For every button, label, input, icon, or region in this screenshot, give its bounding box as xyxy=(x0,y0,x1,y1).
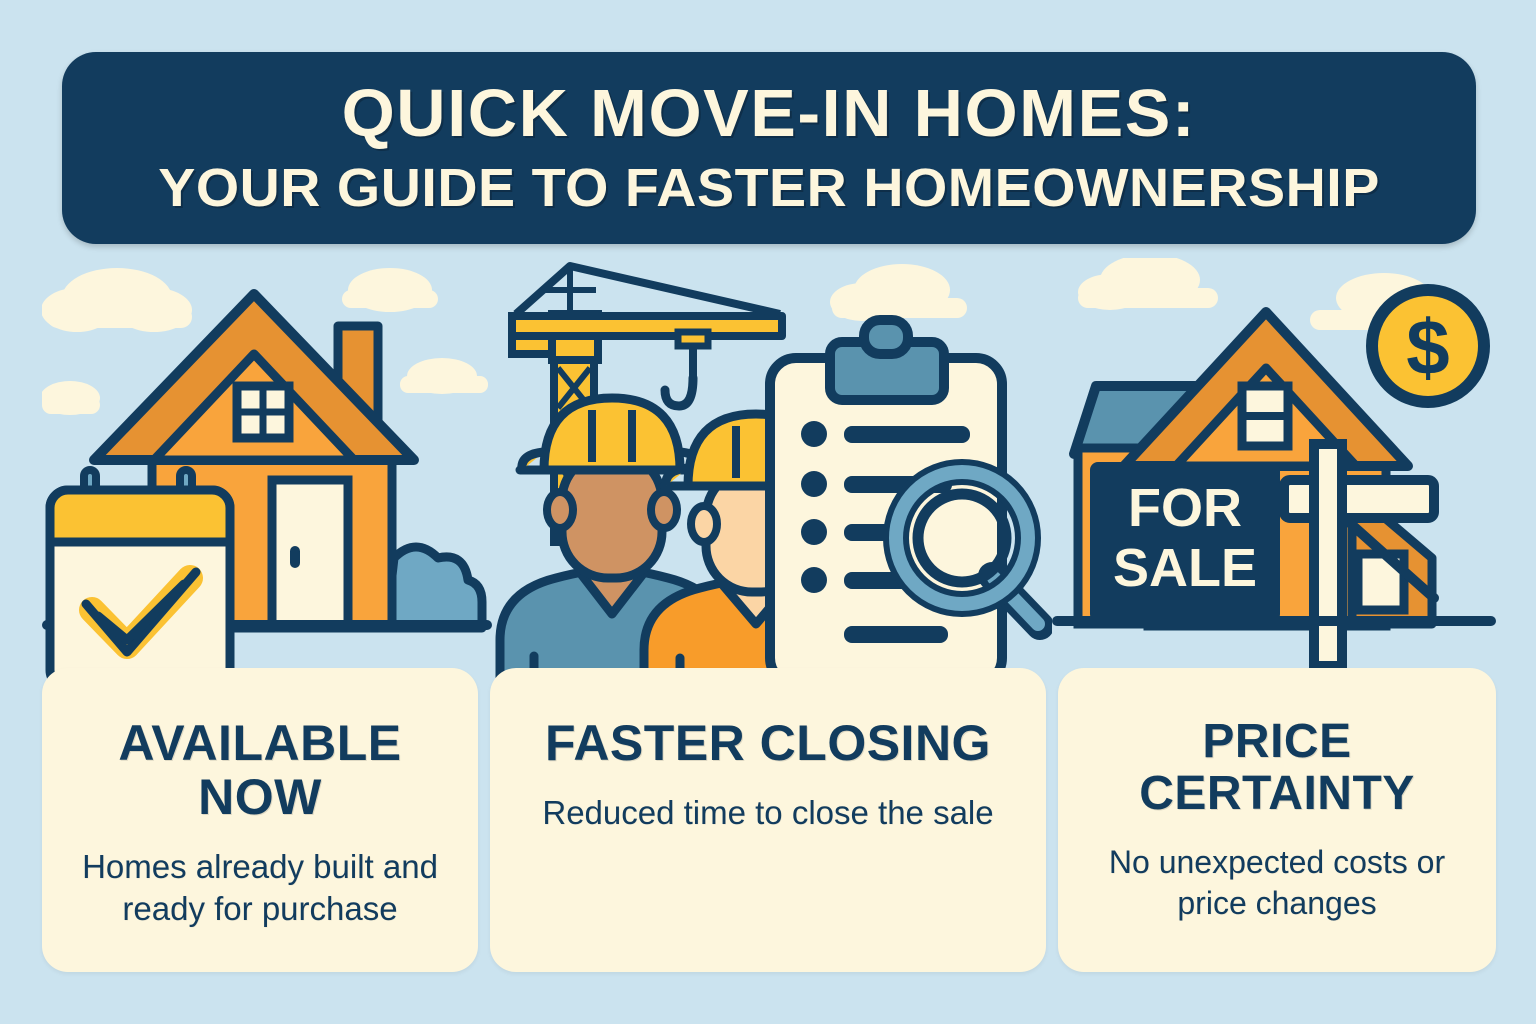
cloud-icon xyxy=(1078,258,1218,310)
construction-graphic xyxy=(492,258,1052,688)
for-sale-line1: FOR xyxy=(1128,478,1242,538)
card-title: AVAILABLE NOW xyxy=(64,716,456,824)
card-description: Reduced time to close the sale xyxy=(512,792,1024,834)
benefit-cards: AVAILABLE NOW Homes already built and re… xyxy=(0,668,1536,974)
cloud-icon xyxy=(830,264,967,321)
calendar-check-icon xyxy=(50,470,230,688)
card-description: Homes already built and ready for purcha… xyxy=(64,846,456,930)
card-price-certainty[interactable]: PRICE CERTAINTY No unexpected costs or p… xyxy=(1058,668,1496,972)
card-title: FASTER CLOSING xyxy=(512,716,1024,770)
title-banner: QUICK MOVE-IN HOMES: YOUR GUIDE TO FASTE… xyxy=(62,52,1476,244)
for-sale-house-graphic: FOR SALE $ xyxy=(1052,258,1496,688)
cloud-icon xyxy=(342,268,438,312)
house-calendar-graphic xyxy=(42,258,492,688)
illustration-available-now xyxy=(42,258,492,688)
clipboard-checklist-icon xyxy=(770,320,1002,684)
cloud-icon xyxy=(42,381,100,415)
card-available-now[interactable]: AVAILABLE NOW Homes already built and re… xyxy=(42,668,478,972)
for-sale-sign: FOR SALE xyxy=(1090,462,1280,622)
illustration-faster-closing xyxy=(492,258,1052,688)
banner-title-line1: QUICK MOVE-IN HOMES: xyxy=(342,79,1196,149)
bush-icon xyxy=(386,547,482,628)
coin-dollar-symbol: $ xyxy=(1406,303,1449,391)
illustration-band: FOR SALE $ xyxy=(0,258,1536,688)
card-title: PRICE CERTAINTY xyxy=(1080,716,1474,820)
dollar-coin-icon: $ xyxy=(1372,290,1484,402)
card-description: No unexpected costs or price changes xyxy=(1080,842,1474,924)
for-sale-line2: SALE xyxy=(1113,538,1257,598)
cloud-icon xyxy=(42,268,192,332)
cloud-icon xyxy=(400,358,488,394)
illustration-price-certainty: FOR SALE $ xyxy=(1052,258,1496,688)
banner-title-line2: YOUR GUIDE TO FASTER HOMEOWNERSHIP xyxy=(158,160,1380,217)
card-faster-closing[interactable]: FASTER CLOSING Reduced time to close the… xyxy=(490,668,1046,972)
